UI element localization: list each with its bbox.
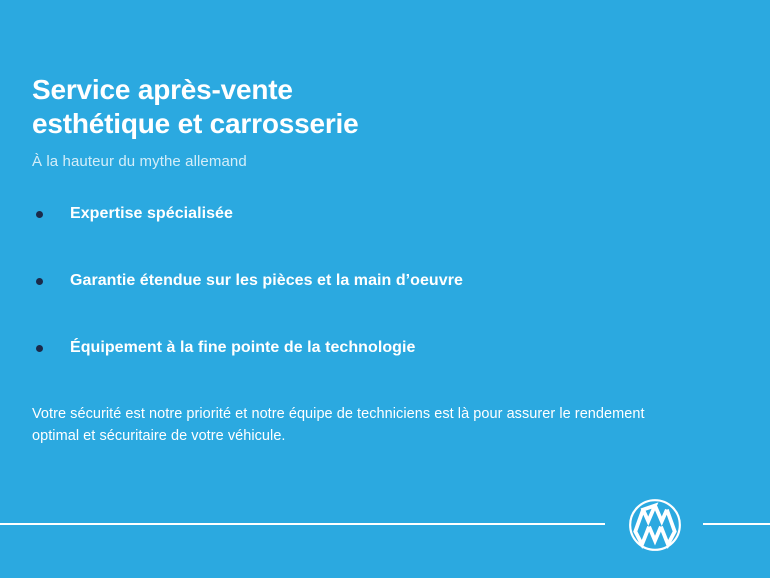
- page-subtitle: À la hauteur du mythe allemand: [32, 152, 247, 172]
- page-title: Service après-vente esthétique et carros…: [32, 73, 359, 141]
- list-item-label: Expertise spécialisée: [70, 205, 233, 222]
- list-item-label: Garantie étendue sur les pièces et la ma…: [70, 272, 463, 289]
- bullet-dot-icon: [36, 211, 43, 218]
- footer-rule-right: [703, 523, 770, 525]
- footer-rule-left: [0, 523, 605, 525]
- bullet-dot-icon: [36, 345, 43, 352]
- body-paragraph: Votre sécurité est notre priorité et not…: [32, 403, 682, 447]
- list-item-label: Équipement à la fine pointe de la techno…: [70, 339, 415, 356]
- feature-list: Expertise spécialisée Garantie étendue s…: [32, 203, 738, 359]
- list-item: Expertise spécialisée: [32, 203, 738, 225]
- list-item: Équipement à la fine pointe de la techno…: [32, 337, 738, 359]
- volkswagen-logo-icon: [628, 498, 682, 552]
- list-item: Garantie étendue sur les pièces et la ma…: [32, 270, 738, 292]
- slide-root: Service après-vente esthétique et carros…: [0, 0, 770, 578]
- slide-footer: [0, 498, 770, 554]
- bullet-dot-icon: [36, 278, 43, 285]
